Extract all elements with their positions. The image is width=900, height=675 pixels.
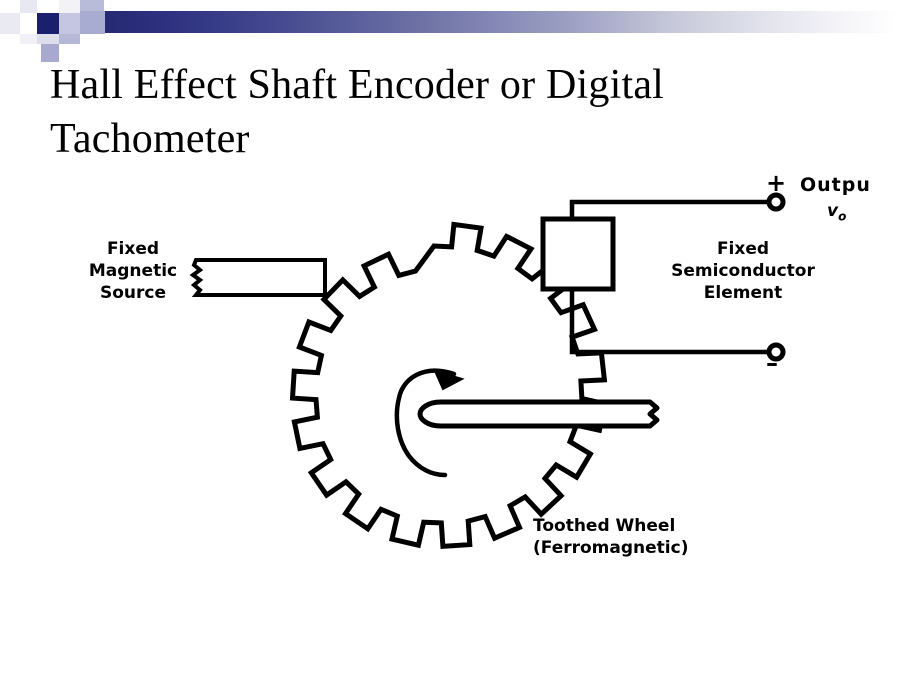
label-output: Outpu <box>800 174 871 196</box>
deco-square-light <box>20 0 37 13</box>
label-terminal-plus: + <box>766 172 786 194</box>
output-terminal-positive <box>769 195 783 209</box>
deco-square-light <box>37 34 59 44</box>
deco-square-light <box>59 0 80 13</box>
deco-square-mid <box>80 11 105 34</box>
label-fixed-magnetic-source: Fixed Magnetic Source <box>78 238 188 304</box>
label-fixed-semiconductor-element: Fixed Semiconductor Element <box>628 238 858 304</box>
hall-effect-diagram: Fixed Magnetic Source Fixed Semiconducto… <box>0 150 900 620</box>
output-voltage-subscript: o <box>838 209 846 223</box>
deco-square-light <box>0 13 20 34</box>
diagram-svg <box>0 150 900 620</box>
header-decoration <box>0 0 900 56</box>
output-voltage-symbol: v <box>827 201 838 221</box>
semiconductor-element-box <box>543 219 613 289</box>
output-wire-positive <box>572 202 768 219</box>
label-toothed-wheel: Toothed Wheel (Ferromagnetic) <box>533 515 763 559</box>
deco-square-light <box>20 34 37 44</box>
deco-square-mid <box>80 0 104 11</box>
label-output-voltage: vo <box>827 200 846 227</box>
deco-square-mid <box>59 34 80 44</box>
rotating-shaft <box>420 402 657 426</box>
magnet-block <box>193 260 325 295</box>
header-gradient-bar <box>105 11 900 33</box>
deco-square-mid <box>59 13 80 34</box>
slide-canvas: Hall Effect Shaft Encoder or Digital Tac… <box>0 0 900 675</box>
deco-square-accent <box>37 13 59 34</box>
label-terminal-minus: – <box>766 352 778 374</box>
